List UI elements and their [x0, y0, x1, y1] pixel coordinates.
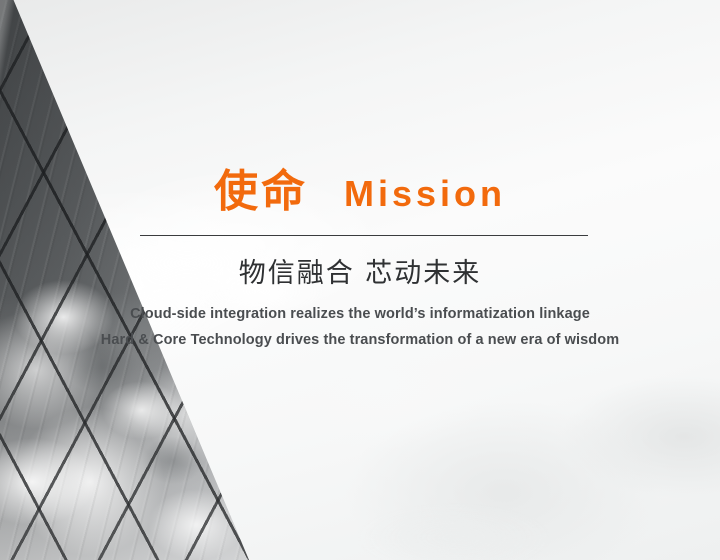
headline-chinese: 使命 [214, 170, 308, 214]
mission-banner: 使命 Mission 物信融合 芯动未来 Cloud-side integrat… [0, 0, 720, 560]
banner-content: 使命 Mission 物信融合 芯动未来 Cloud-side integrat… [0, 0, 720, 560]
subtitle-english-line-1: Cloud-side integration realizes the worl… [0, 301, 720, 327]
subtitle-english: Cloud-side integration realizes the worl… [0, 301, 720, 353]
subtitle-english-line-2: Hard & Core Technology drives the transf… [0, 327, 720, 353]
headline-divider [140, 235, 588, 236]
headline: 使命 Mission [0, 170, 720, 214]
subtitle-chinese: 物信融合 芯动未来 [0, 258, 720, 290]
headline-english: Mission [344, 176, 506, 212]
